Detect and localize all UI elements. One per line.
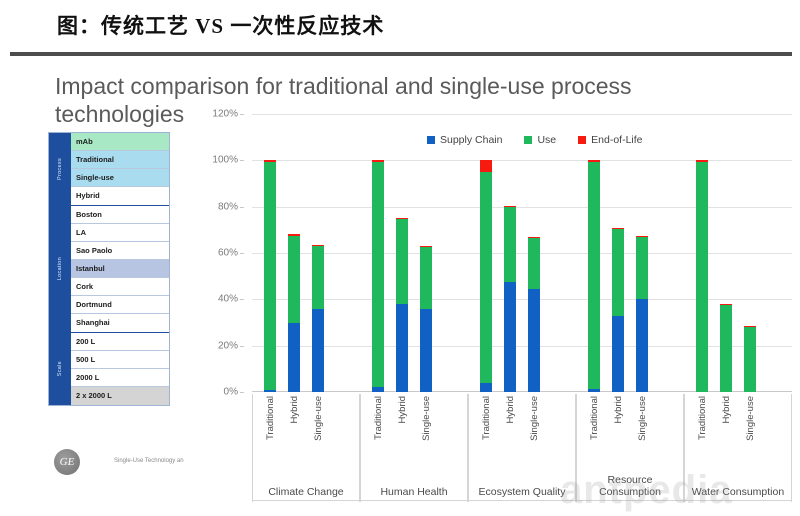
- config-row[interactable]: Traditional: [71, 151, 169, 169]
- config-row-list: 200 L500 L2000 L2 x 2000 L: [71, 333, 169, 405]
- x-axis-tick-label: Single-use: [529, 396, 540, 441]
- impact-comparison-chart: 0%20%40%60%80%100%120% Supply ChainUseEn…: [200, 106, 796, 506]
- y-axis-tick-label: 100%: [212, 155, 238, 166]
- y-axis-tick-label: 40%: [218, 294, 238, 305]
- bar-segment-use: [588, 162, 600, 389]
- config-row[interactable]: Boston: [71, 206, 169, 224]
- config-row[interactable]: 200 L: [71, 333, 169, 351]
- bar[interactable]: [636, 236, 648, 392]
- bar[interactable]: [504, 206, 516, 392]
- x-axis-tick-label: Hybrid: [289, 396, 300, 423]
- bar-segment-supply-chain: [588, 389, 600, 392]
- bar-segment-use: [288, 236, 300, 323]
- config-section-label: Scale: [49, 333, 71, 405]
- bar-segment-supply-chain: [288, 323, 300, 393]
- bar[interactable]: [480, 160, 492, 392]
- bar[interactable]: [312, 245, 324, 392]
- y-axis-tick-mark: [240, 253, 244, 254]
- bar-segment-supply-chain: [504, 282, 516, 392]
- bar[interactable]: [288, 234, 300, 392]
- bar-group: [360, 114, 468, 392]
- legend-label: Use: [537, 134, 556, 146]
- y-axis-tick-label: 20%: [218, 340, 238, 351]
- y-axis-tick-label: 0%: [224, 387, 238, 398]
- bar-segment-supply-chain: [312, 309, 324, 392]
- config-row[interactable]: LA: [71, 224, 169, 242]
- legend-item[interactable]: Use: [524, 134, 556, 146]
- x-axis-group: TraditionalHybridSingle-useHuman Health: [360, 394, 468, 502]
- y-axis-tick-label: 80%: [218, 201, 238, 212]
- y-axis-tick-mark: [240, 160, 244, 161]
- bar-segment-use: [528, 238, 540, 289]
- bar-segment-use: [636, 237, 648, 300]
- bar[interactable]: [264, 160, 276, 392]
- bar[interactable]: [420, 246, 432, 392]
- config-section: Scale200 L500 L2000 L2 x 2000 L: [49, 333, 169, 405]
- x-axis-tick-label: Traditional: [373, 396, 384, 440]
- x-axis-group: TraditionalHybridSingle-useClimate Chang…: [252, 394, 360, 502]
- config-row[interactable]: Sao Paolo: [71, 242, 169, 260]
- x-axis-group-label: Climate Change: [253, 486, 359, 498]
- bar-group: [468, 114, 576, 392]
- y-axis-tick-mark: [240, 207, 244, 208]
- config-row[interactable]: 2 x 2000 L: [71, 387, 169, 405]
- config-row-list: BostonLASao PaoloIstanbulCorkDortmundSha…: [71, 206, 169, 332]
- config-row[interactable]: Cork: [71, 278, 169, 296]
- x-axis-group-label: Ecosystem Quality: [469, 486, 575, 498]
- config-section-label-text: Scale: [57, 361, 63, 376]
- config-row[interactable]: Hybrid: [71, 187, 169, 205]
- legend-swatch-icon: [427, 136, 435, 144]
- bar[interactable]: [588, 160, 600, 392]
- config-row[interactable]: 2000 L: [71, 369, 169, 387]
- chart-legend: Supply ChainUseEnd-of-Life: [427, 134, 643, 146]
- config-row[interactable]: Shanghai: [71, 314, 169, 332]
- y-axis-tick-label: 120%: [212, 109, 238, 120]
- x-axis-group-label: Resource Consumption: [577, 474, 683, 498]
- x-axis-tick-label: Traditional: [589, 396, 600, 440]
- x-axis-group-label: Human Health: [361, 486, 467, 498]
- config-row[interactable]: Istanbul: [71, 260, 169, 278]
- bar-group: [684, 114, 792, 392]
- legend-swatch-icon: [578, 136, 586, 144]
- bar-segment-end-of-life: [480, 160, 492, 172]
- config-section-label-text: Location: [57, 257, 63, 280]
- bar-segment-use: [420, 247, 432, 308]
- legend-swatch-icon: [524, 136, 532, 144]
- bar-group: [252, 114, 360, 392]
- bar[interactable]: [720, 304, 732, 392]
- x-axis-tick-label: Hybrid: [397, 396, 408, 423]
- footer-caption: Single-Use Technology an: [114, 458, 184, 464]
- x-axis-tick-label: Single-use: [745, 396, 756, 441]
- y-axis-tick-mark: [240, 299, 244, 300]
- bar-segment-supply-chain: [420, 309, 432, 392]
- x-axis-tick-label: Hybrid: [505, 396, 516, 423]
- legend-item[interactable]: Supply Chain: [427, 134, 502, 146]
- x-axis-labels: TraditionalHybridSingle-useClimate Chang…: [252, 394, 792, 502]
- config-section: LocationBostonLASao PaoloIstanbulCorkDor…: [49, 206, 169, 333]
- legend-label: End-of-Life: [591, 134, 642, 146]
- config-section-label: Location: [49, 206, 71, 332]
- slide-body: Impact comparison for traditional and si…: [0, 58, 800, 516]
- bar-group: [576, 114, 684, 392]
- x-axis-tick-label: Hybrid: [721, 396, 732, 423]
- config-section-label: Process: [49, 133, 71, 205]
- bar-segment-supply-chain: [636, 299, 648, 392]
- page-header: 图：传统工艺 VS 一次性反应技术: [0, 0, 800, 56]
- bar-segment-use: [696, 162, 708, 393]
- bar-segment-supply-chain: [612, 316, 624, 392]
- y-axis: 0%20%40%60%80%100%120%: [200, 114, 244, 392]
- config-section-label-text: Process: [57, 158, 63, 180]
- header-divider: [10, 52, 792, 56]
- bar-segment-use: [720, 305, 732, 392]
- page-title: 图：传统工艺 VS 一次性反应技术: [57, 10, 384, 40]
- bar-segment-use: [264, 162, 276, 390]
- config-row[interactable]: 500 L: [71, 351, 169, 369]
- bar[interactable]: [696, 160, 708, 392]
- y-axis-tick-mark: [240, 392, 244, 393]
- x-axis-group-label: Water Consumption: [685, 486, 791, 498]
- x-axis-tick-label: Single-use: [421, 396, 432, 441]
- configuration-table: ProcessmAbTraditionalSingle-useHybridLoc…: [48, 132, 170, 406]
- x-axis-tick-label: Traditional: [481, 396, 492, 440]
- bar[interactable]: [372, 160, 384, 392]
- x-axis-group: TraditionalHybridSingle-useResource Cons…: [576, 394, 684, 502]
- bar-segment-use: [744, 327, 756, 392]
- x-axis-tick-label: Hybrid: [613, 396, 624, 423]
- config-row[interactable]: Dortmund: [71, 296, 169, 314]
- bar-segment-supply-chain: [528, 289, 540, 392]
- config-row[interactable]: mAb: [71, 133, 169, 151]
- bar[interactable]: [612, 228, 624, 392]
- bar[interactable]: [396, 218, 408, 392]
- legend-item[interactable]: End-of-Life: [578, 134, 642, 146]
- bar-segment-use: [372, 162, 384, 388]
- x-axis-group: TraditionalHybridSingle-useEcosystem Qua…: [468, 394, 576, 502]
- y-axis-tick-mark: [240, 346, 244, 347]
- y-axis-tick-mark: [240, 114, 244, 115]
- y-axis-tick-label: 60%: [218, 248, 238, 259]
- x-axis-tick-label: Single-use: [637, 396, 648, 441]
- bar-segment-use: [504, 207, 516, 282]
- bar-segment-use: [612, 229, 624, 316]
- ge-logo-icon: GE: [54, 449, 80, 475]
- bar-segment-supply-chain: [264, 390, 276, 392]
- bar-segment-supply-chain: [372, 387, 384, 392]
- config-section: ProcessmAbTraditionalSingle-useHybrid: [49, 133, 169, 206]
- bar-segment-supply-chain: [480, 383, 492, 392]
- x-axis-tick-label: Traditional: [697, 396, 708, 440]
- x-axis-group: TraditionalHybridSingle-useWater Consump…: [684, 394, 792, 502]
- bar[interactable]: [744, 326, 756, 392]
- x-axis-tick-label: Traditional: [265, 396, 276, 440]
- bar-segment-use: [312, 246, 324, 309]
- config-row-list: mAbTraditionalSingle-useHybrid: [71, 133, 169, 205]
- bar-segment-use: [480, 172, 492, 383]
- bar-segment-use: [396, 219, 408, 304]
- legend-label: Supply Chain: [440, 134, 502, 146]
- plot-area: Supply ChainUseEnd-of-Life: [252, 114, 792, 392]
- config-row[interactable]: Single-use: [71, 169, 169, 187]
- bar[interactable]: [528, 237, 540, 392]
- x-axis-tick-label: Single-use: [313, 396, 324, 441]
- bar-segment-supply-chain: [396, 304, 408, 392]
